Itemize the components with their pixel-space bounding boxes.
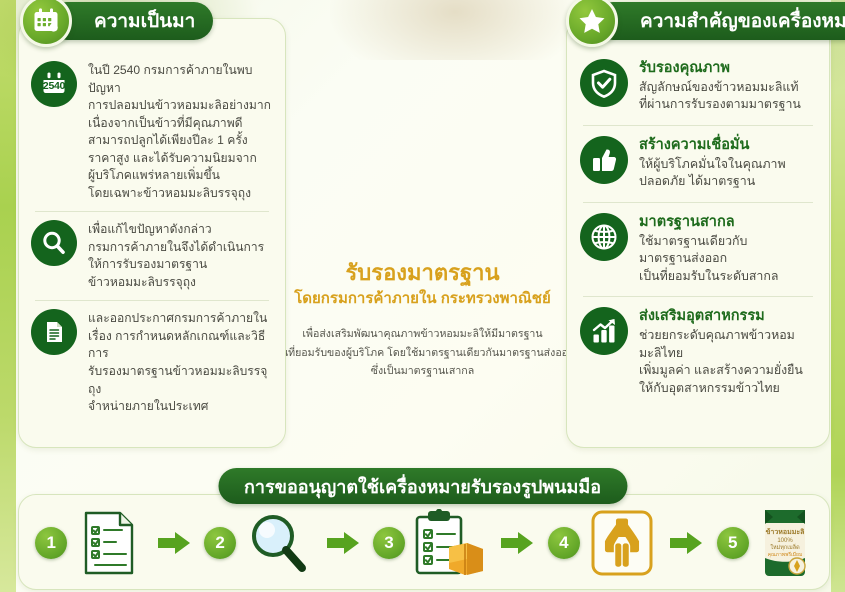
list-item-body: ส่งเสริมอุตสาหกรรม ช่วยยกระดับคุณภาพข้าว…	[639, 307, 815, 397]
step-4: 4	[548, 504, 658, 582]
arrow-right-icon	[501, 530, 535, 556]
list-item-text: ในปี 2540 กรมการค้าภายในพบปัญหา การปลอมป…	[88, 62, 272, 202]
history-section-title: ความเป็นมา	[48, 2, 213, 40]
thumbs-up-icon	[580, 136, 628, 184]
list-item-body: เพื่อแก้ไขปัญหาดังกล่าว กรมการค้าภายในจึ…	[88, 220, 264, 291]
list-item: และออกประกาศกรมการค้าภายใน เรื่อง การกำห…	[19, 300, 285, 424]
rice-bag-line4: คุณภาพพรีเมียม	[767, 551, 802, 558]
step-3: 3	[373, 504, 489, 582]
year-label: 2540	[43, 80, 65, 92]
step-number: 4	[548, 527, 580, 559]
list-item-body: รับรองคุณภาพ สัญลักษณ์ของข้าวหอมมะลิแท้ …	[639, 59, 801, 114]
steps-section-title: การขออนุญาตใช้เครื่องหมายรับรองรูปพนมมือ	[218, 468, 627, 504]
list-item-title: มาตรฐานสากล	[639, 214, 779, 232]
list-item-text: และออกประกาศกรมการค้าภายใน เรื่อง การกำห…	[88, 310, 272, 415]
list-item-body: และออกประกาศกรมการค้าภายใน เรื่อง การกำห…	[88, 309, 272, 415]
rice-bag-icon: ข้าวหอมมะลิ 100% ใหม่ทุกเมล็ด คุณภาพพรีเ…	[755, 506, 815, 580]
list-item-text: ให้ผู้บริโภคมั่นใจในคุณภาพ ปลอดภัย ได้มา…	[639, 156, 786, 191]
list-item-body: ในปี 2540 กรมการค้าภายในพบปัญหา การปลอมป…	[88, 61, 272, 202]
arrow-right-icon	[158, 530, 192, 556]
list-item-body: มาตรฐานสากล ใช้มาตรฐานเดียวกับ มาตรฐานส่…	[639, 213, 779, 286]
background-accent-center	[330, 0, 580, 60]
step-1: 1	[35, 504, 145, 582]
calendar-year-icon: 2540	[31, 61, 77, 107]
steps-panel: 1	[18, 494, 830, 590]
step-2: 2	[204, 504, 314, 582]
list-item: ส่งเสริมอุตสาหกรรม ช่วยยกระดับคุณภาพข้าว…	[567, 296, 829, 408]
growth-chart-icon	[580, 307, 628, 355]
step-5: 5 ข้าวหอมมะลิ 100% ใหม่ทุกเมล็ด คุณภาพพร…	[717, 504, 815, 582]
list-item-title: สร้างความเชื่อมั่น	[639, 137, 786, 155]
arrow-right-icon	[327, 530, 361, 556]
list-item-text: สัญลักษณ์ของข้าวหอมมะลิแท้ ที่ผ่านการรับ…	[639, 79, 801, 114]
history-panel: 2540 ในปี 2540 กรมการค้าภายในพบปัญหา การ…	[18, 18, 286, 448]
list-item-title: ส่งเสริมอุตสาหกรรม	[639, 308, 815, 326]
list-item: มาตรฐานสากล ใช้มาตรฐานเดียวกับ มาตรฐานส่…	[567, 202, 829, 297]
step-number: 1	[35, 527, 67, 559]
list-item-title: รับรองคุณภาพ	[639, 60, 801, 78]
magnifier-icon	[31, 220, 77, 266]
clipboard-box-icon	[411, 506, 489, 580]
step-number: 3	[373, 527, 405, 559]
benefits-section-title: ความสำคัญของเครื่องหมาย	[594, 2, 845, 40]
certification-mark-icon	[586, 506, 658, 580]
application-document-icon	[73, 506, 145, 580]
rice-bag-line3: ใหม่ทุกเมล็ด	[770, 543, 800, 551]
list-item: สร้างความเชื่อมั่น ให้ผู้บริโภคมั่นใจในค…	[567, 125, 829, 202]
step-number: 2	[204, 527, 236, 559]
list-item-body: สร้างความเชื่อมั่น ให้ผู้บริโภคมั่นใจในค…	[639, 136, 786, 191]
list-item-text: ใช้มาตรฐานเดียวกับ มาตรฐานส่งออก เป็นที่…	[639, 233, 779, 286]
document-icon	[31, 309, 77, 355]
list-item-text: ช่วยยกระดับคุณภาพข้าวหอมมะลิไทย เพิ่มมูล…	[639, 327, 815, 397]
arrow-right-icon	[670, 530, 704, 556]
rice-bag-line2: 100%	[777, 538, 793, 544]
magnifier-inspect-icon	[242, 506, 314, 580]
list-item: 2540 ในปี 2540 กรมการค้าภายในพบปัญหา การ…	[19, 19, 285, 211]
list-item-text: เพื่อแก้ไขปัญหาดังกล่าว กรมการค้าภายในจึ…	[88, 221, 264, 291]
steps-row: 1	[19, 495, 831, 591]
shield-check-icon	[580, 59, 628, 107]
list-item: เพื่อแก้ไขปัญหาดังกล่าว กรมการค้าภายในจึ…	[19, 211, 285, 300]
globe-icon	[580, 213, 628, 261]
rice-bag-line1: ข้าวหอมมะลิ	[765, 527, 804, 536]
step-number: 5	[717, 527, 749, 559]
benefits-panel: รับรองคุณภาพ สัญลักษณ์ของข้าวหอมมะลิแท้ …	[566, 18, 830, 448]
